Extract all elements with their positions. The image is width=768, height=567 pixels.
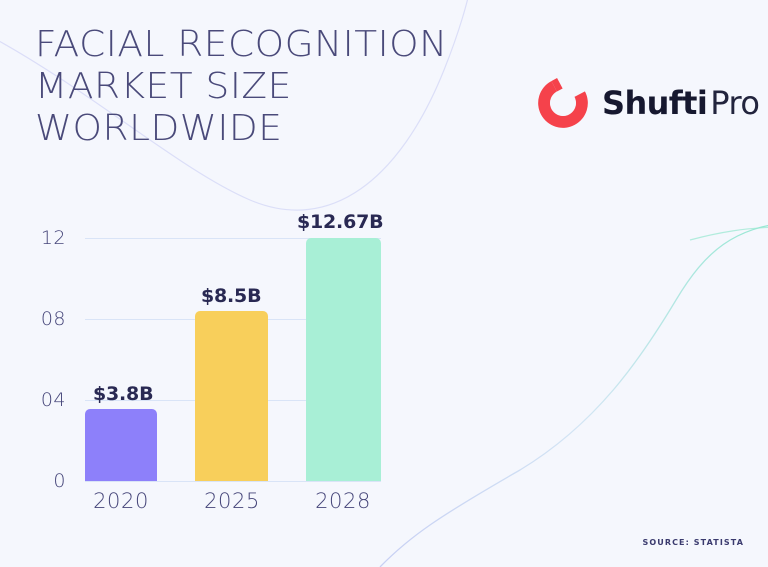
y-axis-tick-12: 12 (6, 227, 66, 249)
x-axis-tick-2025: 2025 (192, 489, 272, 513)
bar-2020[interactable] (85, 409, 157, 481)
bar-value-label-2020: $3.8B (93, 383, 153, 405)
bar-chart: 12 08 04 0 $3.8B $8.5B $12.67B 2020 2025… (0, 0, 768, 567)
x-axis-tick-2028: 2028 (303, 489, 383, 513)
y-axis-tick-00: 0 (6, 470, 66, 492)
infographic-canvas: FACIAL RECOGNITION MARKET SIZE WORLDWIDE… (0, 0, 768, 567)
bar-2028[interactable] (306, 238, 381, 481)
y-axis-tick-08: 08 (6, 308, 66, 330)
source-credit: SOURCE: STATISTA (642, 538, 744, 547)
gridline-00 (85, 481, 381, 482)
x-axis-tick-2020: 2020 (81, 489, 161, 513)
bar-value-label-2025: $8.5B (201, 285, 261, 307)
bar-2025[interactable] (195, 311, 268, 481)
bar-value-label-2028: $12.67B (297, 211, 383, 233)
y-axis-tick-04: 04 (6, 389, 66, 411)
